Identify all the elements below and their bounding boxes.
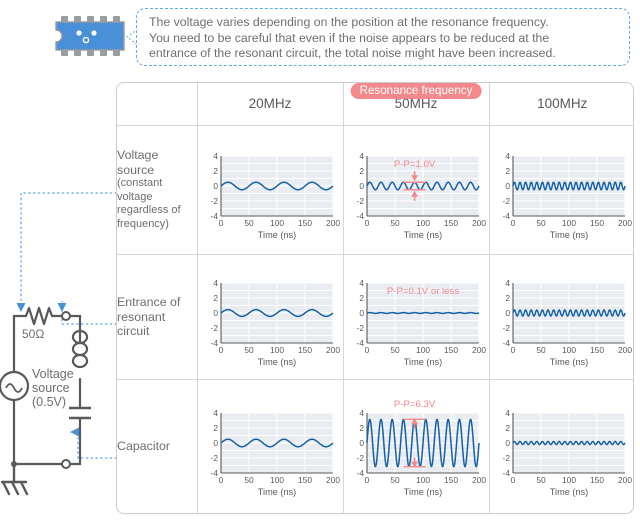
- resistor-symbol: [26, 308, 52, 324]
- pp-annotation-label: P-P=6.3V: [394, 399, 436, 410]
- circuit-diagram: 50Ω Voltage source (0.5V): [0, 186, 118, 516]
- source-label-line3: (0.5V): [32, 395, 66, 409]
- x-axis-label: Time (ns): [404, 357, 442, 367]
- column-header-20mhz: 20MHz: [197, 83, 343, 125]
- row-label-voltage-source: Voltage source (constant voltage regardl…: [117, 125, 197, 254]
- svg-text:100: 100: [270, 475, 284, 485]
- svg-text:150: 150: [444, 475, 458, 485]
- row-label-sub: (constant voltage regardless of frequenc…: [117, 177, 197, 231]
- y-tick-labels: 420-2-4: [357, 278, 365, 348]
- x-tick-labels: 050100150200: [219, 475, 341, 485]
- table-corner-cell: [117, 83, 197, 125]
- svg-text:150: 150: [298, 218, 312, 228]
- svg-text:200: 200: [618, 475, 632, 485]
- node-terminal-top: [62, 312, 70, 320]
- svg-text:150: 150: [298, 345, 312, 355]
- row-label-main: Entrance of resonant circuit: [117, 295, 180, 338]
- ic-chip-icon: [44, 12, 132, 62]
- svg-text:200: 200: [618, 218, 632, 228]
- svg-text:150: 150: [444, 218, 458, 228]
- svg-text:2: 2: [359, 293, 364, 303]
- waveform-table: 20MHz Resonance frequency 50MHz 100MHz V…: [117, 83, 634, 513]
- svg-text:2: 2: [506, 166, 511, 176]
- chart-cell-entrance-100mhz: 420-2-4050100150200Time (ns): [489, 254, 634, 379]
- chart-cell-capacitor-50mhz: 420-2-4050100150200Time (ns)P-P=6.3V: [343, 380, 489, 513]
- chart-cell-entrance-20mhz: 420-2-4050100150200Time (ns): [197, 254, 343, 379]
- svg-text:0: 0: [506, 308, 511, 318]
- pp-annotation-label: P-P=1.0V: [394, 159, 436, 170]
- x-axis-label: Time (ns): [550, 487, 588, 497]
- callout-line-2: You need to be careful that even if the …: [149, 31, 619, 47]
- svg-text:0: 0: [511, 345, 516, 355]
- svg-text:100: 100: [416, 345, 430, 355]
- waveform-trace: [513, 182, 625, 190]
- svg-text:2: 2: [213, 293, 218, 303]
- table-row-capacitor: Capacitor 420-2-4050100150200Time (ns) 4…: [117, 380, 634, 513]
- waveform-trace: [513, 441, 625, 444]
- x-tick-labels: 050100150200: [511, 218, 633, 228]
- resonance-frequency-badge: Resonance frequency: [351, 83, 482, 99]
- svg-text:50: 50: [244, 218, 254, 228]
- oscilloscope-chart-entrance-100mhz: 420-2-4050100150200Time (ns): [491, 261, 633, 373]
- svg-text:0: 0: [511, 218, 516, 228]
- svg-text:100: 100: [416, 475, 430, 485]
- svg-text:2: 2: [506, 423, 511, 433]
- svg-text:0: 0: [359, 438, 364, 448]
- ac-source-symbol: [0, 372, 28, 400]
- x-axis-label: Time (ns): [404, 487, 442, 497]
- node-terminal-bottom: [62, 460, 70, 468]
- oscilloscope-chart-capacitor-50mhz: 420-2-4050100150200Time (ns)P-P=6.3V: [345, 391, 487, 503]
- capacitor-symbol: [69, 408, 91, 418]
- svg-text:50: 50: [244, 345, 254, 355]
- pp-annotation-label: P-P=0.1V or less: [387, 286, 459, 297]
- resistor-label: 50Ω: [22, 327, 44, 341]
- svg-text:200: 200: [472, 345, 486, 355]
- svg-text:100: 100: [416, 218, 430, 228]
- x-tick-labels: 050100150200: [219, 345, 341, 355]
- row-label-capacitor: Capacitor: [117, 380, 197, 513]
- svg-text:-4: -4: [357, 211, 365, 221]
- x-tick-labels: 050100150200: [511, 345, 633, 355]
- x-axis-label: Time (ns): [404, 230, 442, 240]
- svg-text:0: 0: [365, 345, 370, 355]
- svg-text:4: 4: [359, 278, 364, 288]
- svg-text:50: 50: [537, 218, 547, 228]
- x-tick-labels: 050100150200: [365, 475, 487, 485]
- row-label-main: Capacitor: [117, 439, 170, 453]
- source-label-line2: source: [32, 381, 70, 395]
- svg-text:-4: -4: [211, 338, 219, 348]
- svg-text:4: 4: [506, 278, 511, 288]
- svg-text:2: 2: [359, 423, 364, 433]
- oscilloscope-chart-vsrc-20mhz: 420-2-4050100150200Time (ns): [199, 134, 341, 246]
- svg-text:200: 200: [326, 218, 340, 228]
- x-tick-labels: 050100150200: [219, 218, 341, 228]
- comparison-table: 20MHz Resonance frequency 50MHz 100MHz V…: [116, 82, 634, 514]
- x-axis-label: Time (ns): [258, 357, 296, 367]
- circuit-svg: 50Ω Voltage source (0.5V): [0, 186, 118, 516]
- svg-text:100: 100: [562, 218, 576, 228]
- x-axis-label: Time (ns): [258, 487, 296, 497]
- svg-text:200: 200: [472, 218, 486, 228]
- svg-text:0: 0: [359, 308, 364, 318]
- svg-text:4: 4: [506, 151, 511, 161]
- table-header-row: 20MHz Resonance frequency 50MHz 100MHz: [117, 83, 634, 125]
- y-tick-labels: 420-2-4: [503, 408, 511, 478]
- svg-text:-4: -4: [211, 211, 219, 221]
- svg-text:-4: -4: [503, 468, 511, 478]
- svg-text:150: 150: [590, 218, 604, 228]
- svg-text:200: 200: [326, 345, 340, 355]
- svg-text:2: 2: [213, 166, 218, 176]
- waveform-trace: [367, 313, 479, 314]
- oscilloscope-chart-capacitor-20mhz: 420-2-4050100150200Time (ns): [199, 391, 341, 503]
- y-tick-labels: 420-2-4: [503, 278, 511, 348]
- svg-text:-4: -4: [503, 211, 511, 221]
- callout-line-3: entrance of the resonant circuit, the to…: [149, 46, 619, 62]
- svg-text:-2: -2: [503, 196, 511, 206]
- svg-text:50: 50: [390, 218, 400, 228]
- x-tick-labels: 050100150200: [365, 218, 487, 228]
- chart-cell-vsrc-20mhz: 420-2-4050100150200Time (ns): [197, 125, 343, 254]
- svg-text:-2: -2: [503, 323, 511, 333]
- svg-text:-4: -4: [357, 468, 365, 478]
- x-axis-label: Time (ns): [550, 357, 588, 367]
- y-tick-labels: 420-2-4: [211, 278, 219, 348]
- x-axis-label: Time (ns): [550, 230, 588, 240]
- svg-text:-2: -2: [503, 453, 511, 463]
- svg-text:4: 4: [213, 151, 218, 161]
- svg-text:150: 150: [590, 475, 604, 485]
- svg-text:-2: -2: [357, 453, 365, 463]
- oscilloscope-chart-entrance-20mhz: 420-2-4050100150200Time (ns): [199, 261, 341, 373]
- chart-cell-capacitor-20mhz: 420-2-4050100150200Time (ns): [197, 380, 343, 513]
- svg-text:4: 4: [359, 151, 364, 161]
- svg-text:200: 200: [326, 475, 340, 485]
- svg-text:50: 50: [390, 345, 400, 355]
- svg-text:150: 150: [298, 475, 312, 485]
- column-label: 20MHz: [249, 96, 292, 111]
- svg-text:100: 100: [562, 345, 576, 355]
- table-row-entrance: Entrance of resonant circuit 420-2-40501…: [117, 254, 634, 379]
- svg-text:-4: -4: [503, 338, 511, 348]
- svg-text:-2: -2: [357, 196, 365, 206]
- ic-chip-mascot: [44, 12, 132, 62]
- oscilloscope-chart-vsrc-100mhz: 420-2-4050100150200Time (ns): [491, 134, 633, 246]
- svg-text:200: 200: [472, 475, 486, 485]
- svg-text:4: 4: [506, 408, 511, 418]
- svg-text:0: 0: [213, 438, 218, 448]
- svg-text:4: 4: [213, 408, 218, 418]
- svg-text:4: 4: [213, 278, 218, 288]
- y-tick-labels: 420-2-4: [357, 151, 365, 221]
- pp-annotation: P-P=0.1V or less: [387, 286, 459, 297]
- svg-text:2: 2: [213, 423, 218, 433]
- row-label-entrance: Entrance of resonant circuit: [117, 254, 197, 379]
- callout-line-1: The voltage varies depending on the posi…: [149, 15, 619, 31]
- svg-text:150: 150: [444, 345, 458, 355]
- column-label: 100MHz: [537, 96, 587, 111]
- svg-text:150: 150: [590, 345, 604, 355]
- svg-text:50: 50: [390, 475, 400, 485]
- y-tick-labels: 420-2-4: [503, 151, 511, 221]
- svg-text:0: 0: [511, 475, 516, 485]
- x-tick-labels: 050100150200: [365, 345, 487, 355]
- column-header-50mhz: Resonance frequency 50MHz: [343, 83, 489, 125]
- svg-text:0: 0: [219, 345, 224, 355]
- oscilloscope-chart-entrance-50mhz: 420-2-4050100150200Time (ns)P-P=0.1V or …: [345, 261, 487, 373]
- svg-text:100: 100: [270, 345, 284, 355]
- svg-text:2: 2: [359, 166, 364, 176]
- svg-text:200: 200: [618, 345, 632, 355]
- y-tick-labels: 420-2-4: [211, 151, 219, 221]
- svg-text:0: 0: [365, 218, 370, 228]
- x-axis-label: Time (ns): [258, 230, 296, 240]
- row-label-main: Voltage source: [117, 148, 158, 177]
- svg-text:100: 100: [270, 218, 284, 228]
- svg-text:50: 50: [244, 475, 254, 485]
- svg-text:4: 4: [359, 408, 364, 418]
- y-tick-labels: 420-2-4: [357, 408, 365, 478]
- source-label-line1: Voltage: [32, 367, 74, 381]
- svg-text:0: 0: [365, 475, 370, 485]
- svg-text:50: 50: [537, 475, 547, 485]
- svg-text:0: 0: [506, 438, 511, 448]
- chart-cell-entrance-50mhz: 420-2-4050100150200Time (ns)P-P=0.1V or …: [343, 254, 489, 379]
- svg-text:0: 0: [359, 181, 364, 191]
- column-header-100mhz: 100MHz: [489, 83, 634, 125]
- waveform-trace: [513, 310, 625, 316]
- y-tick-labels: 420-2-4: [211, 408, 219, 478]
- svg-text:100: 100: [562, 475, 576, 485]
- svg-text:0: 0: [213, 308, 218, 318]
- svg-text:-2: -2: [211, 323, 219, 333]
- svg-text:-2: -2: [357, 323, 365, 333]
- svg-text:-4: -4: [357, 338, 365, 348]
- x-tick-labels: 050100150200: [511, 475, 633, 485]
- svg-text:-4: -4: [211, 468, 219, 478]
- svg-text:-2: -2: [211, 196, 219, 206]
- svg-text:2: 2: [506, 293, 511, 303]
- oscilloscope-chart-capacitor-100mhz: 420-2-4050100150200Time (ns): [491, 391, 633, 503]
- table-row-voltage-source: Voltage source (constant voltage regardl…: [117, 125, 634, 254]
- svg-text:-2: -2: [211, 453, 219, 463]
- chart-cell-vsrc-100mhz: 420-2-4050100150200Time (ns): [489, 125, 634, 254]
- svg-text:50: 50: [537, 345, 547, 355]
- svg-text:0: 0: [506, 181, 511, 191]
- svg-text:0: 0: [219, 475, 224, 485]
- oscilloscope-chart-vsrc-50mhz: 420-2-4050100150200Time (ns)P-P=1.0V: [345, 134, 487, 246]
- chart-cell-capacitor-100mhz: 420-2-4050100150200Time (ns): [489, 380, 634, 513]
- ground-symbol: [2, 464, 27, 494]
- chart-cell-vsrc-50mhz: 420-2-4050100150200Time (ns)P-P=1.0V: [343, 125, 489, 254]
- svg-text:0: 0: [219, 218, 224, 228]
- svg-text:0: 0: [213, 181, 218, 191]
- explanation-callout: The voltage varies depending on the posi…: [136, 8, 630, 66]
